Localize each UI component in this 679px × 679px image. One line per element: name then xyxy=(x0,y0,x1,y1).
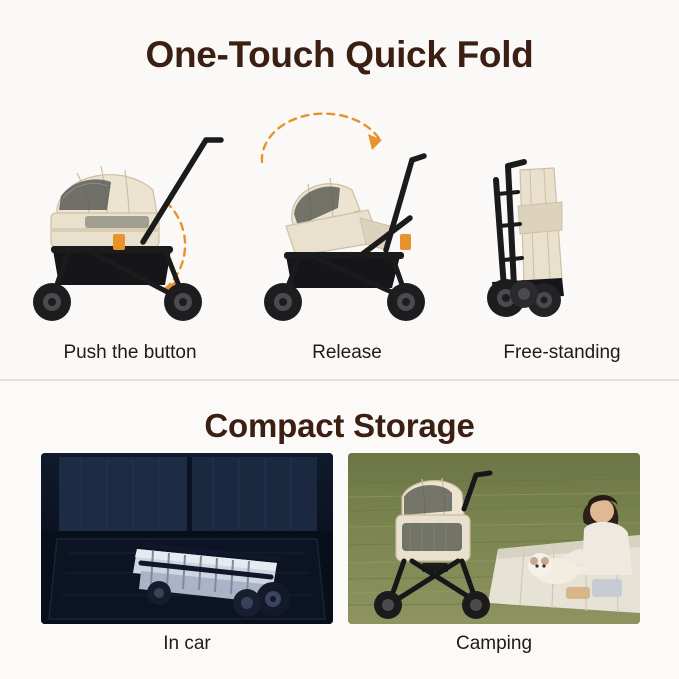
fold-step-3-caption: Free-standing xyxy=(452,342,672,364)
fold-step-2 xyxy=(240,110,450,330)
stroller-open-icon xyxy=(25,110,235,330)
fold-step-2-caption: Release xyxy=(237,342,457,364)
fold-step-1 xyxy=(25,110,235,330)
fold-step-1-caption: Push the button xyxy=(20,342,240,364)
car-trunk-caption: In car xyxy=(41,633,333,655)
section-title: Compact Storage xyxy=(0,407,679,445)
fold-step-panels xyxy=(0,110,679,330)
page-title: One-Touch Quick Fold xyxy=(0,34,679,76)
product-infographic: One-Touch Quick Fold xyxy=(0,0,679,679)
car-trunk-photo xyxy=(41,453,333,624)
camping-caption: Camping xyxy=(348,633,640,655)
compact-storage-section: Compact Storage xyxy=(0,381,679,679)
fold-step-3 xyxy=(458,110,668,330)
stroller-folding-icon xyxy=(240,110,450,330)
camping-photo xyxy=(348,453,640,624)
quick-fold-section: One-Touch Quick Fold xyxy=(0,0,679,380)
stroller-folded-icon xyxy=(458,110,668,330)
